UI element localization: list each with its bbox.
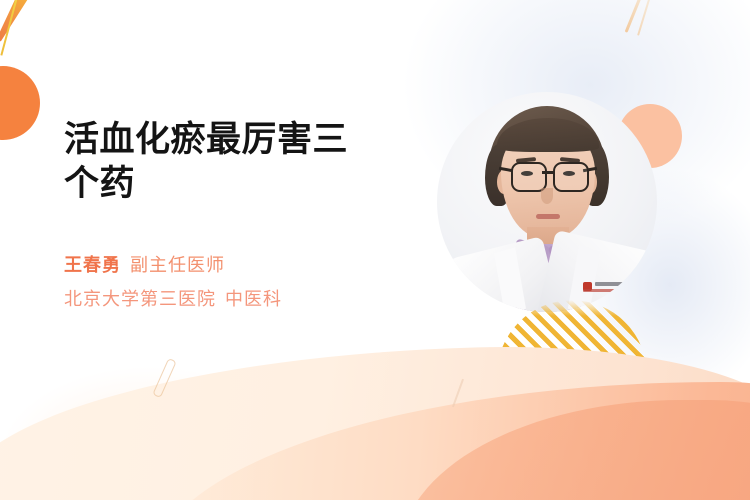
portrait-pocket-pen-icon <box>607 298 614 312</box>
portrait-glasses-lens-right-icon <box>553 162 589 192</box>
portrait-labcoat-right-icon <box>537 230 657 312</box>
bottom-wave-pale <box>0 339 750 500</box>
doctor-affiliation-line: 北京大学第三医院中医科 <box>64 286 414 313</box>
doctor-promo-card: 活血化瘀最厉害三 个药 王春勇副主任医师 北京大学第三医院中医科 <box>0 0 750 500</box>
striped-disc-decoration <box>497 300 647 450</box>
top-right-line-decoration-b <box>637 0 656 36</box>
portrait-nose-icon <box>541 188 553 204</box>
page-title: 活血化瘀最厉害三 个药 <box>64 118 414 206</box>
portrait-glasses-bridge-icon <box>542 171 554 174</box>
orange-wedge-decoration <box>0 0 34 44</box>
yellow-line-decoration <box>0 0 22 56</box>
outlined-bar-decoration <box>152 358 176 398</box>
doctor-portrait-photo <box>437 92 657 312</box>
portrait-mouth-icon <box>536 214 560 219</box>
portrait-hospital-logo-text-icon <box>595 282 631 286</box>
doctor-byline: 王春勇副主任医师 北京大学第三医院中医科 <box>64 252 414 313</box>
top-right-line-decoration-a <box>625 0 647 33</box>
portrait-hospital-logo-subtext-icon <box>583 289 631 292</box>
doctor-hospital: 北京大学第三医院 <box>64 289 216 309</box>
doctor-job-title: 副主任医师 <box>130 255 225 275</box>
pink-wash-backdrop <box>0 330 360 500</box>
bottom-wave-peach-overlay <box>400 400 750 500</box>
text-column: 活血化瘀最厉害三 个药 王春勇副主任医师 北京大学第三医院中医科 <box>64 118 414 313</box>
bottom-wave-peach <box>150 382 750 500</box>
orange-circle-decoration <box>0 66 40 140</box>
faint-stroke-decoration <box>452 379 464 408</box>
doctor-name-line: 王春勇副主任医师 <box>64 252 414 279</box>
doctor-department: 中医科 <box>225 289 282 309</box>
doctor-name: 王春勇 <box>64 255 121 275</box>
